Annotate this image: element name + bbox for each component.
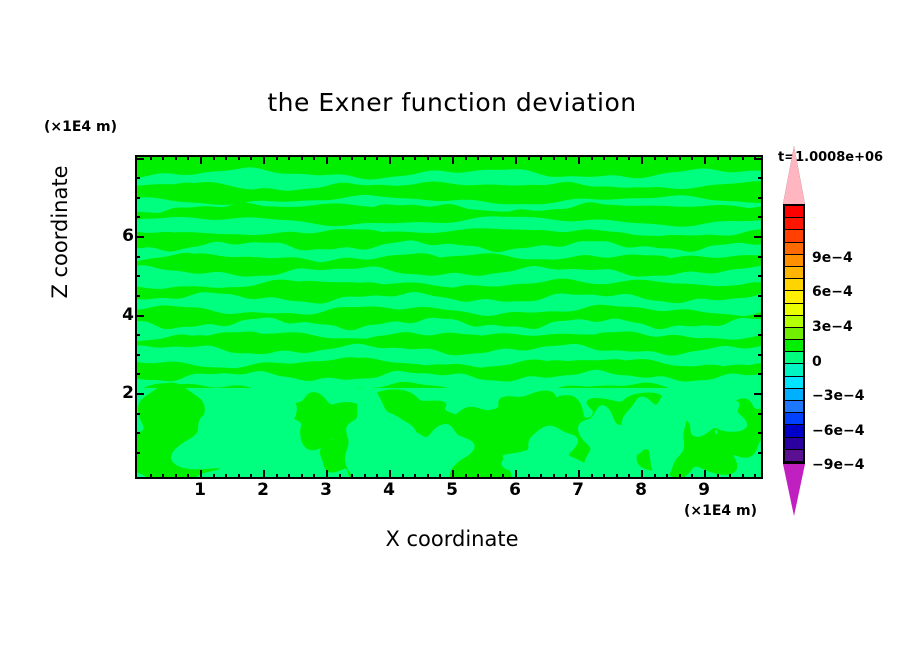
contour-field bbox=[137, 157, 761, 477]
colorbar-band bbox=[785, 218, 803, 230]
tick-mark bbox=[616, 474, 618, 479]
tick-mark bbox=[666, 155, 668, 160]
x-tick-label: 4 bbox=[383, 480, 395, 500]
tick-mark bbox=[135, 197, 140, 199]
tick-mark bbox=[250, 474, 252, 479]
tick-mark bbox=[754, 236, 763, 238]
tick-mark bbox=[135, 295, 140, 297]
colorbar-bottom-arrow bbox=[783, 464, 805, 516]
tick-mark bbox=[427, 155, 429, 160]
tick-mark bbox=[135, 177, 140, 179]
tick-mark bbox=[326, 155, 328, 164]
x-tick-label: 5 bbox=[446, 480, 458, 500]
tick-mark bbox=[679, 474, 681, 479]
tick-mark bbox=[758, 334, 763, 336]
colorbar-tick-label: 9e−4 bbox=[812, 250, 853, 266]
colorbar-band bbox=[785, 255, 803, 267]
tick-mark bbox=[465, 155, 467, 160]
tick-mark bbox=[754, 315, 763, 317]
tick-mark bbox=[666, 474, 668, 479]
tick-mark bbox=[135, 236, 144, 238]
colorbar-band bbox=[785, 389, 803, 401]
tick-mark bbox=[225, 155, 227, 160]
tick-mark bbox=[603, 474, 605, 479]
tick-mark bbox=[439, 155, 441, 160]
x-tick-label: 6 bbox=[509, 480, 521, 500]
tick-mark bbox=[591, 155, 593, 160]
x-axis-unit-label: (×1E4 m) bbox=[684, 503, 757, 519]
tick-mark bbox=[515, 470, 517, 479]
colorbar-tick-label: 3e−4 bbox=[812, 319, 853, 335]
colorbar-tick-label: 6e−4 bbox=[812, 284, 853, 300]
tick-mark bbox=[225, 474, 227, 479]
colorbar bbox=[783, 204, 805, 464]
tick-mark bbox=[490, 155, 492, 160]
tick-mark bbox=[376, 155, 378, 160]
tick-mark bbox=[616, 155, 618, 160]
colorbar-band bbox=[785, 438, 803, 450]
tick-mark bbox=[263, 470, 265, 479]
colorbar-tick-label: −9e−4 bbox=[812, 457, 864, 473]
colorbar-band bbox=[785, 243, 803, 255]
tick-mark bbox=[135, 275, 140, 277]
tick-mark bbox=[578, 155, 580, 164]
tick-mark bbox=[717, 155, 719, 160]
x-tick-label: 1 bbox=[194, 480, 206, 500]
colorbar-band bbox=[785, 316, 803, 328]
tick-mark bbox=[200, 470, 202, 479]
tick-mark bbox=[135, 373, 140, 375]
tick-mark bbox=[150, 155, 152, 160]
colorbar-band bbox=[785, 401, 803, 413]
x-tick-label: 3 bbox=[320, 480, 332, 500]
x-axis-title: X coordinate bbox=[0, 527, 904, 551]
tick-mark bbox=[238, 155, 240, 160]
tick-mark bbox=[502, 474, 504, 479]
tick-mark bbox=[339, 474, 341, 479]
tick-mark bbox=[758, 177, 763, 179]
tick-mark bbox=[351, 155, 353, 160]
tick-mark bbox=[238, 474, 240, 479]
y-axis-title: Z coordinate bbox=[48, 132, 72, 332]
tick-mark bbox=[758, 354, 763, 356]
tick-mark bbox=[742, 474, 744, 479]
tick-mark bbox=[502, 155, 504, 160]
colorbar-band bbox=[785, 450, 803, 462]
tick-mark bbox=[301, 155, 303, 160]
x-tick-label: 7 bbox=[572, 480, 584, 500]
tick-mark bbox=[213, 474, 215, 479]
tick-mark bbox=[135, 432, 140, 434]
colorbar-band bbox=[785, 340, 803, 352]
tick-mark bbox=[313, 155, 315, 160]
tick-mark bbox=[477, 155, 479, 160]
tick-mark bbox=[175, 474, 177, 479]
tick-mark bbox=[250, 155, 252, 160]
contour-plot-area bbox=[135, 155, 763, 479]
tick-mark bbox=[326, 470, 328, 479]
tick-mark bbox=[754, 393, 763, 395]
tick-mark bbox=[704, 155, 706, 164]
tick-mark bbox=[758, 373, 763, 375]
tick-mark bbox=[591, 474, 593, 479]
tick-mark bbox=[758, 275, 763, 277]
tick-mark bbox=[389, 155, 391, 164]
tick-mark bbox=[187, 155, 189, 160]
tick-mark bbox=[490, 474, 492, 479]
tick-mark bbox=[679, 155, 681, 160]
tick-mark bbox=[540, 155, 542, 160]
tick-mark bbox=[288, 155, 290, 160]
tick-mark bbox=[565, 155, 567, 160]
tick-mark bbox=[452, 470, 454, 479]
tick-mark bbox=[465, 474, 467, 479]
colorbar-band bbox=[785, 291, 803, 303]
tick-mark bbox=[754, 474, 756, 479]
tick-mark bbox=[162, 155, 164, 160]
tick-mark bbox=[200, 155, 202, 164]
tick-mark bbox=[758, 452, 763, 454]
tick-mark bbox=[758, 216, 763, 218]
tick-mark bbox=[351, 474, 353, 479]
colorbar-band bbox=[785, 425, 803, 437]
tick-mark bbox=[402, 474, 404, 479]
tick-mark bbox=[603, 155, 605, 160]
colorbar-tick-label: −6e−4 bbox=[812, 423, 864, 439]
tick-mark bbox=[135, 334, 140, 336]
colorbar-band bbox=[785, 328, 803, 340]
tick-mark bbox=[135, 452, 140, 454]
tick-mark bbox=[427, 474, 429, 479]
tick-mark bbox=[175, 155, 177, 160]
tick-mark bbox=[758, 432, 763, 434]
tick-mark bbox=[729, 155, 731, 160]
tick-mark bbox=[135, 315, 144, 317]
tick-mark bbox=[150, 474, 152, 479]
tick-mark bbox=[439, 474, 441, 479]
tick-mark bbox=[641, 155, 643, 164]
x-tick-label: 9 bbox=[698, 480, 710, 500]
tick-mark bbox=[628, 155, 630, 160]
tick-mark bbox=[263, 155, 265, 164]
y-tick-label: 4 bbox=[120, 305, 134, 325]
tick-mark bbox=[213, 155, 215, 160]
tick-mark bbox=[758, 295, 763, 297]
colorbar-band bbox=[785, 230, 803, 242]
tick-mark bbox=[276, 155, 278, 160]
tick-mark bbox=[276, 474, 278, 479]
tick-mark bbox=[389, 470, 391, 479]
y-tick-label: 6 bbox=[120, 226, 134, 246]
tick-mark bbox=[758, 256, 763, 258]
tick-mark bbox=[704, 470, 706, 479]
tick-mark bbox=[414, 474, 416, 479]
tick-mark bbox=[452, 155, 454, 164]
tick-mark bbox=[691, 155, 693, 160]
colorbar-top-arrow bbox=[783, 146, 805, 204]
tick-mark bbox=[187, 474, 189, 479]
tick-mark bbox=[742, 155, 744, 160]
x-tick-label: 8 bbox=[635, 480, 647, 500]
tick-mark bbox=[717, 474, 719, 479]
tick-mark bbox=[641, 470, 643, 479]
tick-mark bbox=[758, 197, 763, 199]
tick-mark bbox=[135, 354, 140, 356]
tick-mark bbox=[313, 474, 315, 479]
tick-mark bbox=[654, 155, 656, 160]
tick-mark bbox=[376, 474, 378, 479]
colorbar-band bbox=[785, 206, 803, 218]
tick-mark bbox=[540, 474, 542, 479]
x-tick-label: 2 bbox=[257, 480, 269, 500]
tick-mark bbox=[691, 474, 693, 479]
tick-mark bbox=[162, 474, 164, 479]
colorbar-band bbox=[785, 279, 803, 291]
tick-mark bbox=[628, 474, 630, 479]
tick-mark bbox=[414, 155, 416, 160]
tick-mark bbox=[135, 158, 144, 160]
tick-mark bbox=[339, 155, 341, 160]
tick-mark bbox=[364, 474, 366, 479]
tick-mark bbox=[578, 470, 580, 479]
colorbar-band bbox=[785, 377, 803, 389]
tick-mark bbox=[758, 413, 763, 415]
tick-mark bbox=[754, 158, 763, 160]
page-title: the Exner function deviation bbox=[0, 88, 904, 117]
tick-mark bbox=[553, 474, 555, 479]
tick-mark bbox=[135, 413, 140, 415]
tick-mark bbox=[364, 155, 366, 160]
tick-mark bbox=[528, 474, 530, 479]
y-tick-label: 2 bbox=[120, 383, 134, 403]
tick-mark bbox=[301, 474, 303, 479]
colorbar-band bbox=[785, 352, 803, 364]
tick-mark bbox=[528, 155, 530, 160]
tick-mark bbox=[553, 155, 555, 160]
tick-mark bbox=[477, 474, 479, 479]
tick-mark bbox=[135, 256, 140, 258]
tick-mark bbox=[135, 393, 144, 395]
tick-mark bbox=[654, 474, 656, 479]
tick-mark bbox=[135, 216, 140, 218]
tick-mark bbox=[565, 474, 567, 479]
tick-mark bbox=[729, 474, 731, 479]
colorbar-band bbox=[785, 364, 803, 376]
tick-mark bbox=[288, 474, 290, 479]
tick-mark bbox=[402, 155, 404, 160]
colorbar-tick-label: 0 bbox=[812, 354, 822, 370]
colorbar-tick-label: −3e−4 bbox=[812, 388, 864, 404]
colorbar-band bbox=[785, 413, 803, 425]
colorbar-band bbox=[785, 304, 803, 316]
tick-mark bbox=[515, 155, 517, 164]
colorbar-band bbox=[785, 267, 803, 279]
